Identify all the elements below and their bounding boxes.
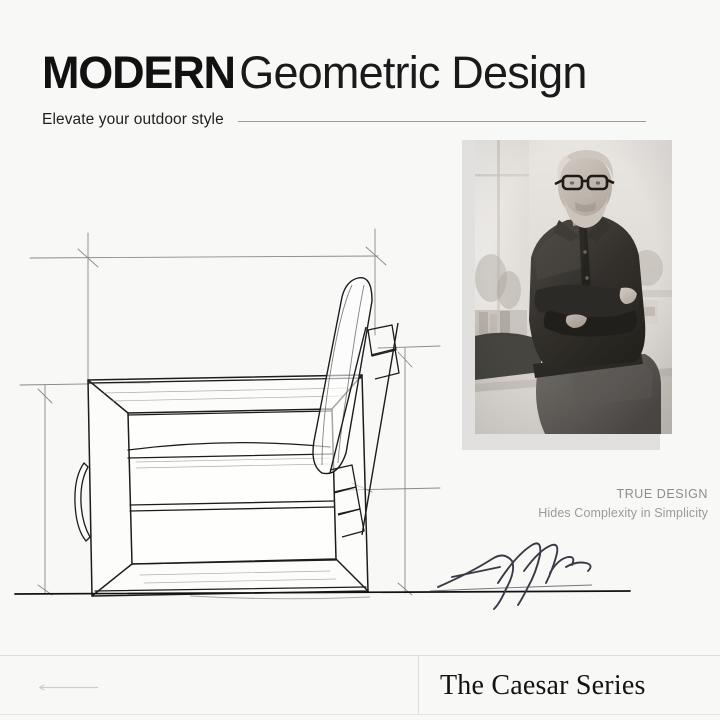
footer-bottom-rule (0, 714, 720, 715)
armchair-technical-sketch (0, 215, 660, 615)
headline-bold: MODERN (42, 47, 235, 98)
poster-canvas: MODERN Geometric Design Elevate your out… (0, 0, 720, 720)
subtitle-row: Elevate your outdoor style (42, 110, 646, 130)
footer-vertical-divider (418, 656, 419, 714)
page-title: MODERN Geometric Design (42, 50, 587, 95)
arrow-left-icon (38, 684, 100, 691)
series-title: The Caesar Series (440, 662, 708, 710)
subtitle-rule (238, 121, 646, 122)
subtitle-text: Elevate your outdoor style (42, 111, 224, 129)
footer-top-rule (0, 655, 720, 656)
signature-mark (438, 543, 591, 609)
headline-light: Geometric Design (239, 47, 586, 98)
